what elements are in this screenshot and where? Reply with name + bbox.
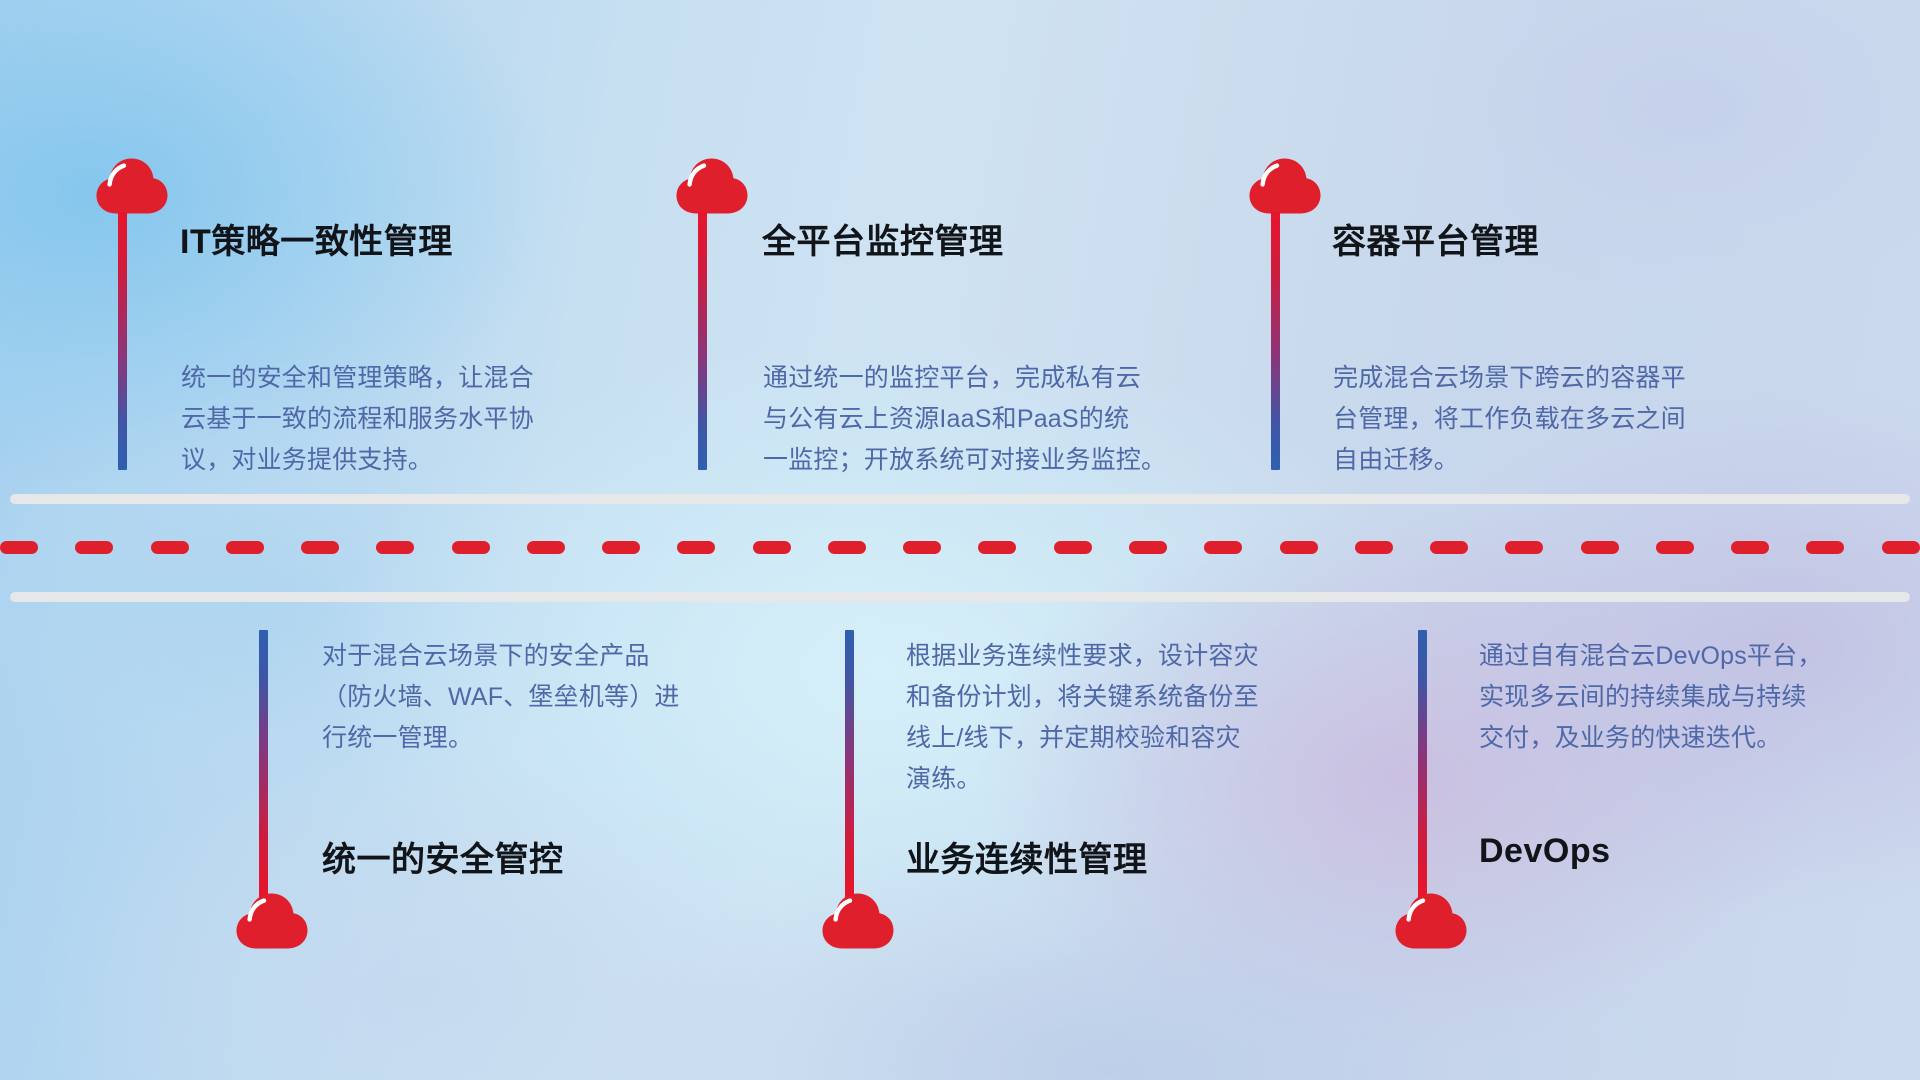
cloud-icon xyxy=(821,893,895,949)
connector-stem xyxy=(1271,212,1280,470)
bottom-body-3: 通过自有混合云DevOps平台， 实现多云间的持续集成与持续 交付，及业务的快速… xyxy=(1479,636,1909,759)
dash-segment xyxy=(1731,541,1769,554)
dash-segment xyxy=(1054,541,1092,554)
cloud-icon xyxy=(1248,158,1322,214)
dash-segment xyxy=(1806,541,1844,554)
top-body-2: 通过统一的监控平台，完成私有云 与公有云上资源IaaS和PaaS的统 一监控；开… xyxy=(763,358,1233,481)
dash-segment xyxy=(527,541,565,554)
cloud-icon xyxy=(1394,893,1468,949)
dash-segment xyxy=(0,541,38,554)
connector-stem xyxy=(259,630,268,898)
dash-segment xyxy=(151,541,189,554)
connector-stem xyxy=(698,212,707,470)
dash-segment xyxy=(1505,541,1543,554)
dash-segment xyxy=(1581,541,1619,554)
top-heading-3: 容器平台管理 xyxy=(1332,214,1539,263)
dash-segment xyxy=(828,541,866,554)
dash-segment xyxy=(602,541,640,554)
divider-rail-top xyxy=(10,494,1910,504)
top-heading-1: IT策略一致性管理 xyxy=(180,214,453,263)
dashed-divider xyxy=(0,540,1920,554)
dash-segment xyxy=(1430,541,1468,554)
dash-segment xyxy=(1355,541,1393,554)
center-divider xyxy=(0,494,1920,602)
cloud-icon xyxy=(95,158,169,214)
dash-segment xyxy=(677,541,715,554)
dash-segment xyxy=(301,541,339,554)
dash-segment xyxy=(376,541,414,554)
connector-stem xyxy=(1418,630,1427,898)
dash-segment xyxy=(1129,541,1167,554)
dash-segment xyxy=(226,541,264,554)
dash-segment xyxy=(452,541,490,554)
dash-segment xyxy=(753,541,791,554)
divider-rail-bottom xyxy=(10,592,1910,602)
bottom-heading-2: 业务连续性管理 xyxy=(906,832,1148,881)
connector-stem xyxy=(845,630,854,898)
dash-segment xyxy=(1882,541,1920,554)
top-body-3: 完成混合云场景下跨云的容器平 台管理，将工作负载在多云之间 自由迁移。 xyxy=(1333,358,1793,481)
bottom-heading-3: DevOps xyxy=(1479,832,1611,871)
cloud-icon xyxy=(235,893,309,949)
dash-segment xyxy=(1280,541,1318,554)
bottom-body-1: 对于混合云场景下的安全产品 （防火墙、WAF、堡垒机等）进 行统一管理。 xyxy=(322,636,772,759)
top-heading-2: 全平台监控管理 xyxy=(762,214,1004,263)
dash-segment xyxy=(978,541,1016,554)
infographic-canvas: IT策略一致性管理 统一的安全和管理策略，让混合 云基于一致的流程和服务水平协 … xyxy=(0,0,1920,1080)
dash-segment xyxy=(1656,541,1694,554)
dash-segment xyxy=(75,541,113,554)
connector-stem xyxy=(118,212,127,470)
dash-segment xyxy=(1204,541,1242,554)
bottom-heading-1: 统一的安全管控 xyxy=(322,832,564,881)
dash-segment xyxy=(903,541,941,554)
top-body-1: 统一的安全和管理策略，让混合 云基于一致的流程和服务水平协 议，对业务提供支持。 xyxy=(181,358,611,481)
cloud-icon xyxy=(675,158,749,214)
bottom-body-2: 根据业务连续性要求，设计容灾 和备份计划，将关键系统备份至 线上/线下，并定期校… xyxy=(906,636,1356,800)
